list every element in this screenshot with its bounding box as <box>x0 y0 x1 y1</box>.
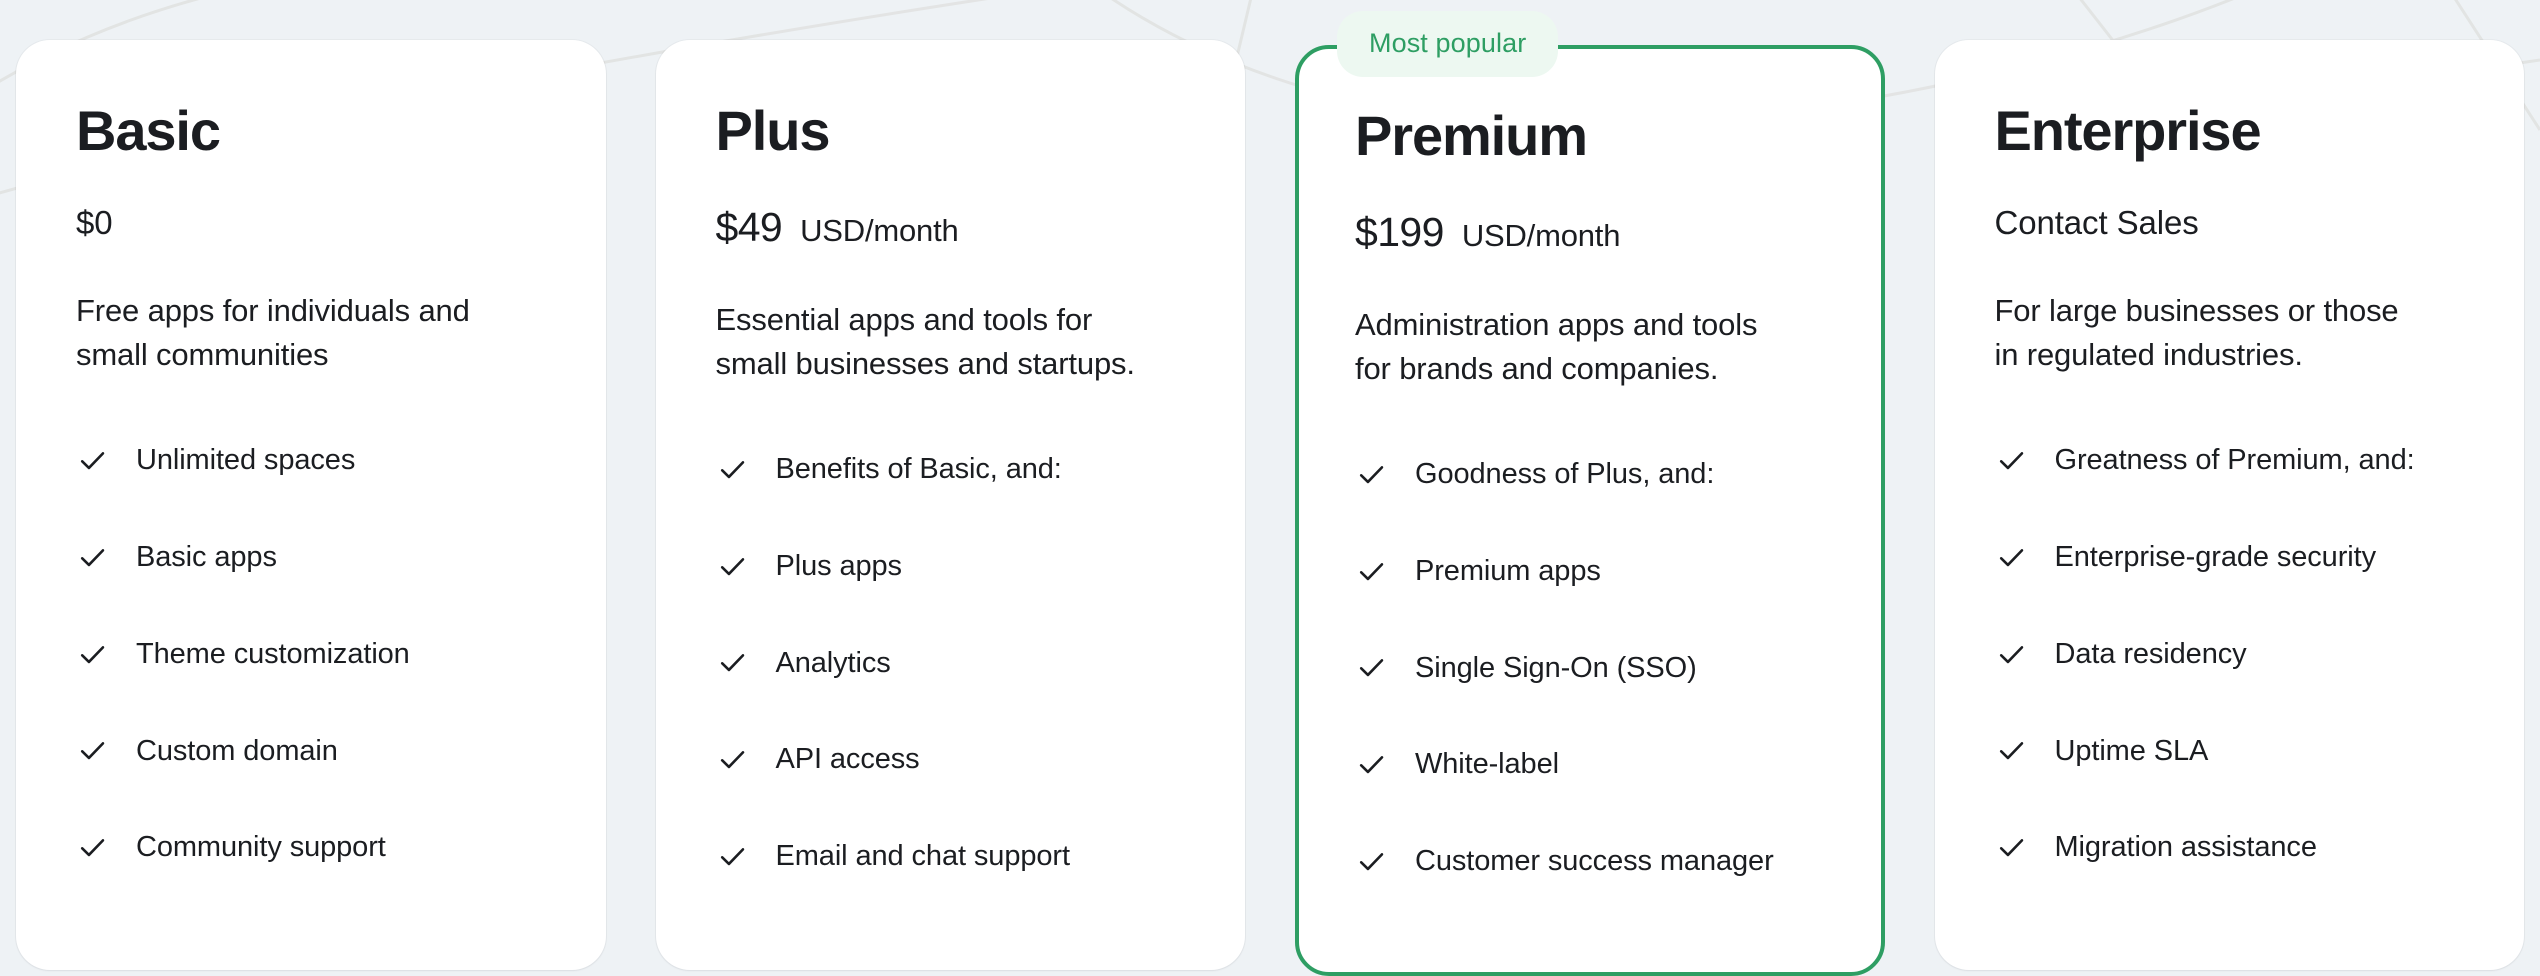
feature-label: Uptime SLA <box>2055 734 2209 769</box>
feature-item: Unlimited spaces <box>76 443 546 478</box>
feature-label: Migration assistance <box>2055 830 2317 865</box>
plan-description: Essential apps and tools for small busin… <box>716 298 1146 386</box>
plan-price: $0 <box>76 205 113 241</box>
check-icon <box>1355 555 1388 588</box>
feature-item: White-label <box>1355 747 1825 782</box>
feature-label: Goodness of Plus, and: <box>1415 457 1714 492</box>
feature-item: Customer success manager <box>1355 844 1825 879</box>
check-icon <box>716 453 749 486</box>
check-icon <box>1355 651 1388 684</box>
check-icon <box>76 734 109 767</box>
plan-price-row: $199USD/month <box>1355 210 1825 255</box>
feature-item: Data residency <box>1995 637 2465 672</box>
check-icon <box>1355 748 1388 781</box>
feature-label: Plus apps <box>776 549 902 584</box>
check-icon <box>1995 734 2028 767</box>
plan-card-plus[interactable]: Plus$49USD/monthEssential apps and tools… <box>656 40 1246 970</box>
plan-title: Premium <box>1355 107 1825 166</box>
check-icon <box>76 638 109 671</box>
check-icon <box>1355 458 1388 491</box>
feature-item: Premium apps <box>1355 554 1825 589</box>
feature-label: Benefits of Basic, and: <box>776 452 1062 487</box>
plan-price: $49 <box>716 205 783 250</box>
check-icon <box>716 550 749 583</box>
check-icon <box>76 444 109 477</box>
feature-item: Goodness of Plus, and: <box>1355 457 1825 492</box>
plan-description: Administration apps and tools for brands… <box>1355 303 1785 391</box>
feature-label: Custom domain <box>136 734 338 769</box>
feature-label: Premium apps <box>1415 554 1601 589</box>
plan-feature-list: Greatness of Premium, and:Enterprise-gra… <box>1995 443 2465 865</box>
feature-item: Plus apps <box>716 549 1186 584</box>
check-icon <box>1995 831 2028 864</box>
plan-price-row: Contact Sales <box>1995 205 2465 241</box>
feature-label: Analytics <box>776 646 891 681</box>
plan-title: Basic <box>76 102 546 161</box>
plan-description: For large businesses or those in regulat… <box>1995 289 2425 377</box>
check-icon <box>1995 444 2028 477</box>
plan-title: Plus <box>716 102 1186 161</box>
plan-feature-list: Benefits of Basic, and:Plus appsAnalytic… <box>716 452 1186 874</box>
feature-item: Custom domain <box>76 734 546 769</box>
plan-price-row: $0 <box>76 205 546 241</box>
check-icon <box>1995 541 2028 574</box>
plan-price-row: $49USD/month <box>716 205 1186 250</box>
feature-item: Basic apps <box>76 540 546 575</box>
feature-label: Data residency <box>2055 637 2247 672</box>
plan-description: Free apps for individuals and small comm… <box>76 289 506 377</box>
feature-label: Email and chat support <box>776 839 1070 874</box>
check-icon <box>76 831 109 864</box>
check-icon <box>716 743 749 776</box>
feature-label: Enterprise-grade security <box>2055 540 2376 575</box>
plan-card-premium[interactable]: Most popularPremium$199USD/monthAdminist… <box>1295 45 1885 976</box>
check-icon <box>1995 638 2028 671</box>
plan-price: $199 <box>1355 210 1444 255</box>
plan-card-enterprise[interactable]: EnterpriseContact SalesFor large busines… <box>1935 40 2525 970</box>
feature-item: Migration assistance <box>1995 830 2465 865</box>
feature-label: Greatness of Premium, and: <box>2055 443 2415 478</box>
plan-price: Contact Sales <box>1995 205 2199 241</box>
feature-label: Single Sign-On (SSO) <box>1415 651 1697 686</box>
feature-item: API access <box>716 742 1186 777</box>
feature-item: Benefits of Basic, and: <box>716 452 1186 487</box>
check-icon <box>1355 845 1388 878</box>
feature-label: API access <box>776 742 920 777</box>
feature-item: Theme customization <box>76 637 546 672</box>
feature-label: Customer success manager <box>1415 844 1774 879</box>
feature-label: Unlimited spaces <box>136 443 355 478</box>
most-popular-badge: Most popular <box>1337 11 1558 77</box>
plan-title: Enterprise <box>1995 102 2465 161</box>
feature-item: Enterprise-grade security <box>1995 540 2465 575</box>
plan-price-period: USD/month <box>800 213 958 249</box>
check-icon <box>716 840 749 873</box>
plan-feature-list: Goodness of Plus, and:Premium appsSingle… <box>1355 457 1825 879</box>
check-icon <box>716 646 749 679</box>
feature-item: Analytics <box>716 646 1186 681</box>
check-icon <box>76 541 109 574</box>
feature-label: Community support <box>136 830 386 865</box>
feature-item: Community support <box>76 830 546 865</box>
feature-item: Uptime SLA <box>1995 734 2465 769</box>
pricing-plans-grid: Basic$0Free apps for individuals and sma… <box>0 0 2540 976</box>
feature-label: Basic apps <box>136 540 277 575</box>
feature-label: White-label <box>1415 747 1559 782</box>
feature-label: Theme customization <box>136 637 410 672</box>
feature-item: Greatness of Premium, and: <box>1995 443 2465 478</box>
plan-feature-list: Unlimited spacesBasic appsTheme customiz… <box>76 443 546 865</box>
plan-price-period: USD/month <box>1462 218 1620 254</box>
plan-card-basic[interactable]: Basic$0Free apps for individuals and sma… <box>16 40 606 970</box>
feature-item: Email and chat support <box>716 839 1186 874</box>
feature-item: Single Sign-On (SSO) <box>1355 651 1825 686</box>
